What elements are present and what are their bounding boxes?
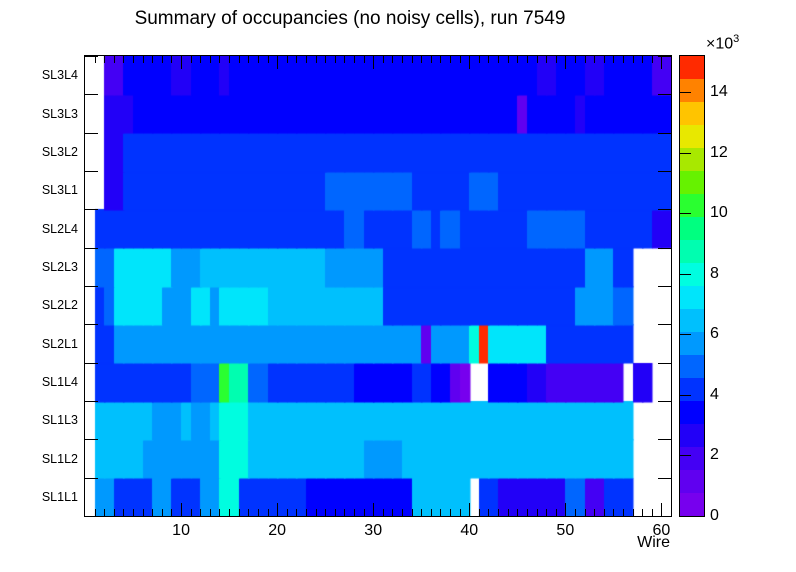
x-axis-tick: [546, 509, 547, 516]
heatmap-canvas[interactable]: [85, 56, 671, 516]
x-axis-tick: [392, 56, 393, 63]
x-axis-tick: [527, 509, 528, 516]
x-axis-tick: [258, 56, 259, 63]
x-axis-tick: [287, 56, 288, 63]
x-axis-tick: [440, 509, 441, 516]
colorbar-tick: [680, 274, 691, 275]
x-axis-tick: [162, 509, 163, 516]
x-axis-tick: [354, 56, 355, 63]
x-axis-tick: [652, 509, 653, 516]
y-axis-tick: [658, 363, 671, 364]
x-axis-tick: [556, 56, 557, 63]
x-axis-tick: [431, 56, 432, 63]
x-axis-tick: [296, 56, 297, 63]
y-axis-tick: [85, 324, 98, 325]
x-axis-tick: [152, 56, 153, 63]
x-axis-tick: [306, 56, 307, 63]
x-axis-tick: [229, 56, 230, 63]
y-axis-label-sl3l1: SL3L1: [42, 183, 78, 197]
x-axis-tick: [517, 509, 518, 516]
x-axis-tick: [171, 56, 172, 63]
colorbar-tick: [680, 153, 691, 154]
y-axis-label-sl1l2: SL1L2: [42, 452, 78, 466]
colorbar-band: [680, 125, 704, 148]
x-axis-tick: [335, 509, 336, 516]
colorbar-tick: [680, 213, 691, 214]
y-axis-label-sl3l2: SL3L2: [42, 145, 78, 159]
y-axis-tick: [85, 171, 98, 172]
x-axis-tick: [354, 509, 355, 516]
x-axis-tick: [671, 56, 672, 63]
x-axis-tick: [633, 56, 634, 63]
x-axis-tick: [537, 509, 538, 516]
x-axis-tick: [123, 509, 124, 516]
y-axis-tick: [85, 209, 98, 210]
x-axis-tick: [421, 56, 422, 63]
x-axis-tick: [623, 56, 624, 63]
colorbar-exponent-prefix: ×10: [706, 35, 733, 52]
y-axis-tick: [658, 94, 671, 95]
colorbar-tick: [680, 455, 691, 456]
y-axis-tick: [85, 286, 98, 287]
colorbar-tick-label: 8: [710, 265, 719, 283]
y-axis-tick: [658, 324, 671, 325]
x-axis-tick: [642, 509, 643, 516]
x-axis-tick: [623, 509, 624, 516]
colorbar-tick-label: 14: [710, 83, 728, 101]
x-axis-tick: [268, 56, 269, 63]
y-axis-label-sl3l4: SL3L4: [42, 68, 78, 82]
y-axis-label-sl1l4: SL1L4: [42, 375, 78, 389]
x-axis-tick: [364, 56, 365, 63]
colorbar-tick: [680, 334, 691, 335]
x-axis-tick: [383, 509, 384, 516]
y-axis-label-sl1l1: SL1L1: [42, 490, 78, 504]
x-axis-tick: [191, 509, 192, 516]
x-axis-tick: [633, 509, 634, 516]
colorbar-band: [680, 56, 704, 79]
x-axis-tick: [508, 56, 509, 63]
x-axis-tick: [325, 509, 326, 516]
x-axis-tick: [479, 56, 480, 63]
x-axis-tick: [104, 56, 105, 63]
x-axis-tick: [248, 56, 249, 63]
x-axis-tick: [479, 509, 480, 516]
x-axis-tick: [123, 56, 124, 63]
colorbar-band: [680, 309, 704, 332]
y-axis-tick: [85, 439, 98, 440]
x-axis-tick: [143, 509, 144, 516]
x-axis-tick: [258, 509, 259, 516]
x-axis-tick: [565, 56, 566, 69]
colorbar-band: [680, 148, 704, 171]
x-axis-tick: [537, 56, 538, 63]
x-axis-tick: [450, 56, 451, 63]
x-axis-tick: [412, 509, 413, 516]
x-axis-tick: [421, 509, 422, 516]
y-axis-tick: [85, 133, 98, 134]
x-axis-tick: [383, 56, 384, 63]
colorbar-band: [680, 332, 704, 355]
x-axis-tick: [316, 509, 317, 516]
x-axis-tick: [171, 509, 172, 516]
x-axis-tick: [556, 509, 557, 516]
x-axis-tick: [200, 509, 201, 516]
y-axis-tick: [658, 171, 671, 172]
y-axis-tick: [658, 286, 671, 287]
x-axis-tick: [440, 56, 441, 63]
y-axis-tick: [658, 401, 671, 402]
x-axis-tick: [181, 56, 182, 69]
x-axis-tick: [565, 503, 566, 516]
chart-title: Summary of occupancies (no noisy cells),…: [0, 8, 700, 30]
colorbar-band: [680, 102, 704, 125]
x-axis-tick: [181, 503, 182, 516]
colorbar-band: [680, 401, 704, 424]
colorbar-tick: [680, 395, 691, 396]
x-axis-tick: [162, 56, 163, 63]
y-axis-tick: [658, 209, 671, 210]
x-axis-tick: [392, 509, 393, 516]
x-axis-tick: [316, 56, 317, 63]
x-axis-tick: [594, 56, 595, 63]
x-axis-tick: [152, 509, 153, 516]
y-axis-label-sl2l2: SL2L2: [42, 298, 78, 312]
x-axis-tick: [248, 509, 249, 516]
x-axis-tick: [335, 56, 336, 63]
x-axis-tick: [613, 509, 614, 516]
x-axis-tick: [488, 56, 489, 63]
x-axis-tick: [402, 509, 403, 516]
colorbar-band: [680, 79, 704, 102]
colorbar-tick-label: 6: [710, 325, 719, 343]
colorbar-band: [680, 171, 704, 194]
root-canvas: Summary of occupancies (no noisy cells),…: [0, 0, 796, 572]
x-axis-tick: [460, 509, 461, 516]
x-axis-tick: [344, 509, 345, 516]
x-axis-tick: [527, 56, 528, 63]
x-axis-tick: [95, 509, 96, 516]
colorbar-band: [680, 378, 704, 401]
y-axis-tick: [85, 56, 98, 57]
colorbar-exponent-power: 3: [733, 33, 739, 45]
y-axis-tick: [658, 439, 671, 440]
x-axis-tick: [546, 56, 547, 63]
x-axis-tick: [613, 56, 614, 63]
x-axis-tick: [306, 509, 307, 516]
y-axis-tick: [85, 478, 98, 479]
y-axis-tick: [85, 248, 98, 249]
y-axis-label-sl2l3: SL2L3: [42, 260, 78, 274]
x-axis-tick: [219, 56, 220, 63]
y-axis-tick: [658, 56, 671, 57]
x-axis-tick: [594, 509, 595, 516]
colorbar-band: [680, 447, 704, 470]
y-axis-tick: [658, 133, 671, 134]
x-axis-tick: [517, 56, 518, 63]
colorbar-tick-label: 10: [710, 204, 728, 222]
x-axis-tick: [585, 509, 586, 516]
x-axis-tick: [431, 509, 432, 516]
colorbar-band: [680, 493, 704, 516]
x-axis-tick: [239, 509, 240, 516]
colorbar-tick: [680, 516, 691, 517]
y-axis-tick: [658, 478, 671, 479]
x-axis-tick: [652, 56, 653, 63]
x-axis-tick-label: 40: [460, 522, 478, 540]
x-axis-tick: [498, 509, 499, 516]
x-axis-tick: [114, 56, 115, 63]
x-axis-tick-label: 30: [364, 522, 382, 540]
x-axis-tick: [498, 56, 499, 63]
x-axis-tick: [671, 509, 672, 516]
y-axis-label-sl1l3: SL1L3: [42, 413, 78, 427]
colorbar-band: [680, 424, 704, 447]
x-axis-tick: [575, 56, 576, 63]
x-axis-title: Wire: [637, 534, 670, 552]
x-axis-tick: [373, 56, 374, 69]
x-axis-tick: [344, 56, 345, 63]
y-axis-tick: [85, 363, 98, 364]
x-axis-tick-label: 50: [556, 522, 574, 540]
x-axis-tick: [508, 509, 509, 516]
y-axis-label-sl3l3: SL3L3: [42, 107, 78, 121]
colorbar-exponent: ×103: [706, 33, 739, 53]
x-axis-tick: [104, 509, 105, 516]
x-axis-tick: [210, 509, 211, 516]
x-axis-tick: [277, 503, 278, 516]
colorbar-band: [680, 355, 704, 378]
x-axis-tick: [277, 56, 278, 69]
y-axis-tick: [658, 248, 671, 249]
colorbar-band: [680, 217, 704, 240]
x-axis-tick: [95, 56, 96, 63]
x-axis-tick: [191, 56, 192, 63]
colorbar-tick-label: 2: [710, 446, 719, 464]
x-axis-tick: [364, 509, 365, 516]
x-axis-tick: [575, 509, 576, 516]
y-axis-label-sl2l4: SL2L4: [42, 222, 78, 236]
x-axis-tick: [268, 509, 269, 516]
x-axis-tick: [133, 509, 134, 516]
x-axis-tick: [210, 56, 211, 63]
colorbar-tick-label: 4: [710, 386, 719, 404]
x-axis-tick: [229, 509, 230, 516]
y-axis-tick: [85, 401, 98, 402]
y-axis-label-sl2l1: SL2L1: [42, 337, 78, 351]
x-axis-tick: [133, 56, 134, 63]
x-axis-tick: [373, 503, 374, 516]
x-axis-tick: [661, 503, 662, 516]
x-axis-tick: [604, 509, 605, 516]
x-axis-tick: [114, 509, 115, 516]
x-axis-tick: [402, 56, 403, 63]
colorbar-tick: [680, 92, 691, 93]
x-axis-tick: [287, 509, 288, 516]
x-axis-tick: [604, 56, 605, 63]
x-axis-tick-label: 20: [268, 522, 286, 540]
x-axis-tick: [661, 56, 662, 69]
x-axis-tick: [200, 56, 201, 63]
x-axis-tick: [239, 56, 240, 63]
x-axis-tick: [642, 56, 643, 63]
x-axis-tick: [219, 509, 220, 516]
y-axis-tick: [85, 94, 98, 95]
x-axis-tick: [460, 56, 461, 63]
colorbar-tick-label: 12: [710, 144, 728, 162]
colorbar[interactable]: 02468101214: [679, 55, 705, 517]
colorbar-band: [680, 240, 704, 263]
x-axis-tick: [469, 503, 470, 516]
x-axis-tick: [585, 56, 586, 63]
colorbar-band: [680, 470, 704, 493]
x-axis-tick: [296, 509, 297, 516]
colorbar-tick-label: 0: [710, 507, 719, 525]
x-axis-tick: [450, 509, 451, 516]
x-axis-tick: [325, 56, 326, 63]
x-axis-tick: [412, 56, 413, 63]
x-axis-tick: [143, 56, 144, 63]
colorbar-band: [680, 286, 704, 309]
x-axis-tick: [488, 509, 489, 516]
x-axis-tick-label: 10: [172, 522, 190, 540]
plot-frame: SL1L1SL1L2SL1L3SL1L4SL2L1SL2L2SL2L3SL2L4…: [84, 55, 672, 517]
x-axis-tick: [469, 56, 470, 69]
